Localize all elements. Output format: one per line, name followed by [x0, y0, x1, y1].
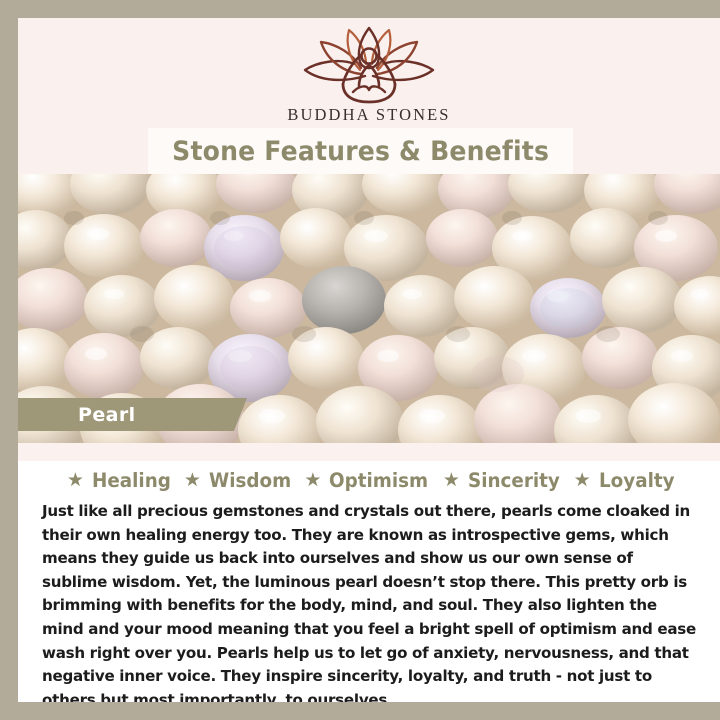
benefit-label: Loyalty [599, 469, 675, 492]
benefit-label: Wisdom [209, 469, 291, 492]
star-icon: ★ [443, 471, 460, 490]
star-icon: ★ [67, 471, 84, 490]
benefit-label: Optimism [329, 469, 428, 492]
benefit-label: Healing [92, 469, 171, 492]
star-icon: ★ [304, 471, 321, 490]
benefit-item-loyalty: ★ Loyalty [566, 469, 679, 492]
page-title: Stone Features & Benefits [172, 136, 549, 167]
stone-name: Pearl [78, 404, 136, 426]
benefit-item-sincerity: ★ Sincerity [435, 469, 566, 492]
star-icon: ★ [184, 471, 201, 490]
benefits-list: ★ Healing ★ Wisdom ★ Optimism ★ Sincerit… [18, 469, 720, 492]
star-icon: ★ [574, 471, 591, 490]
benefit-item-optimism: ★ Optimism [296, 469, 435, 492]
lotus-meditation-figure-icon [287, 22, 451, 104]
brand-name: BUDDHA STONES [18, 105, 720, 125]
infographic-page: BUDDHA STONES Stone Features & Benefits [0, 0, 720, 720]
content-card: BUDDHA STONES Stone Features & Benefits [18, 18, 720, 702]
stone-photo: Pearl [18, 174, 720, 443]
divider-strip [18, 443, 720, 461]
description-text: Just like all precious gemstones and cry… [42, 500, 700, 702]
stone-name-tag: Pearl [18, 398, 234, 431]
benefit-item-healing: ★ Healing [59, 469, 176, 492]
benefit-item-wisdom: ★ Wisdom [176, 469, 297, 492]
title-band: Stone Features & Benefits [148, 128, 573, 174]
benefit-label: Sincerity [468, 469, 560, 492]
brand-logo: BUDDHA STONES [18, 22, 720, 125]
content-section: ★ Healing ★ Wisdom ★ Optimism ★ Sincerit… [18, 443, 720, 702]
